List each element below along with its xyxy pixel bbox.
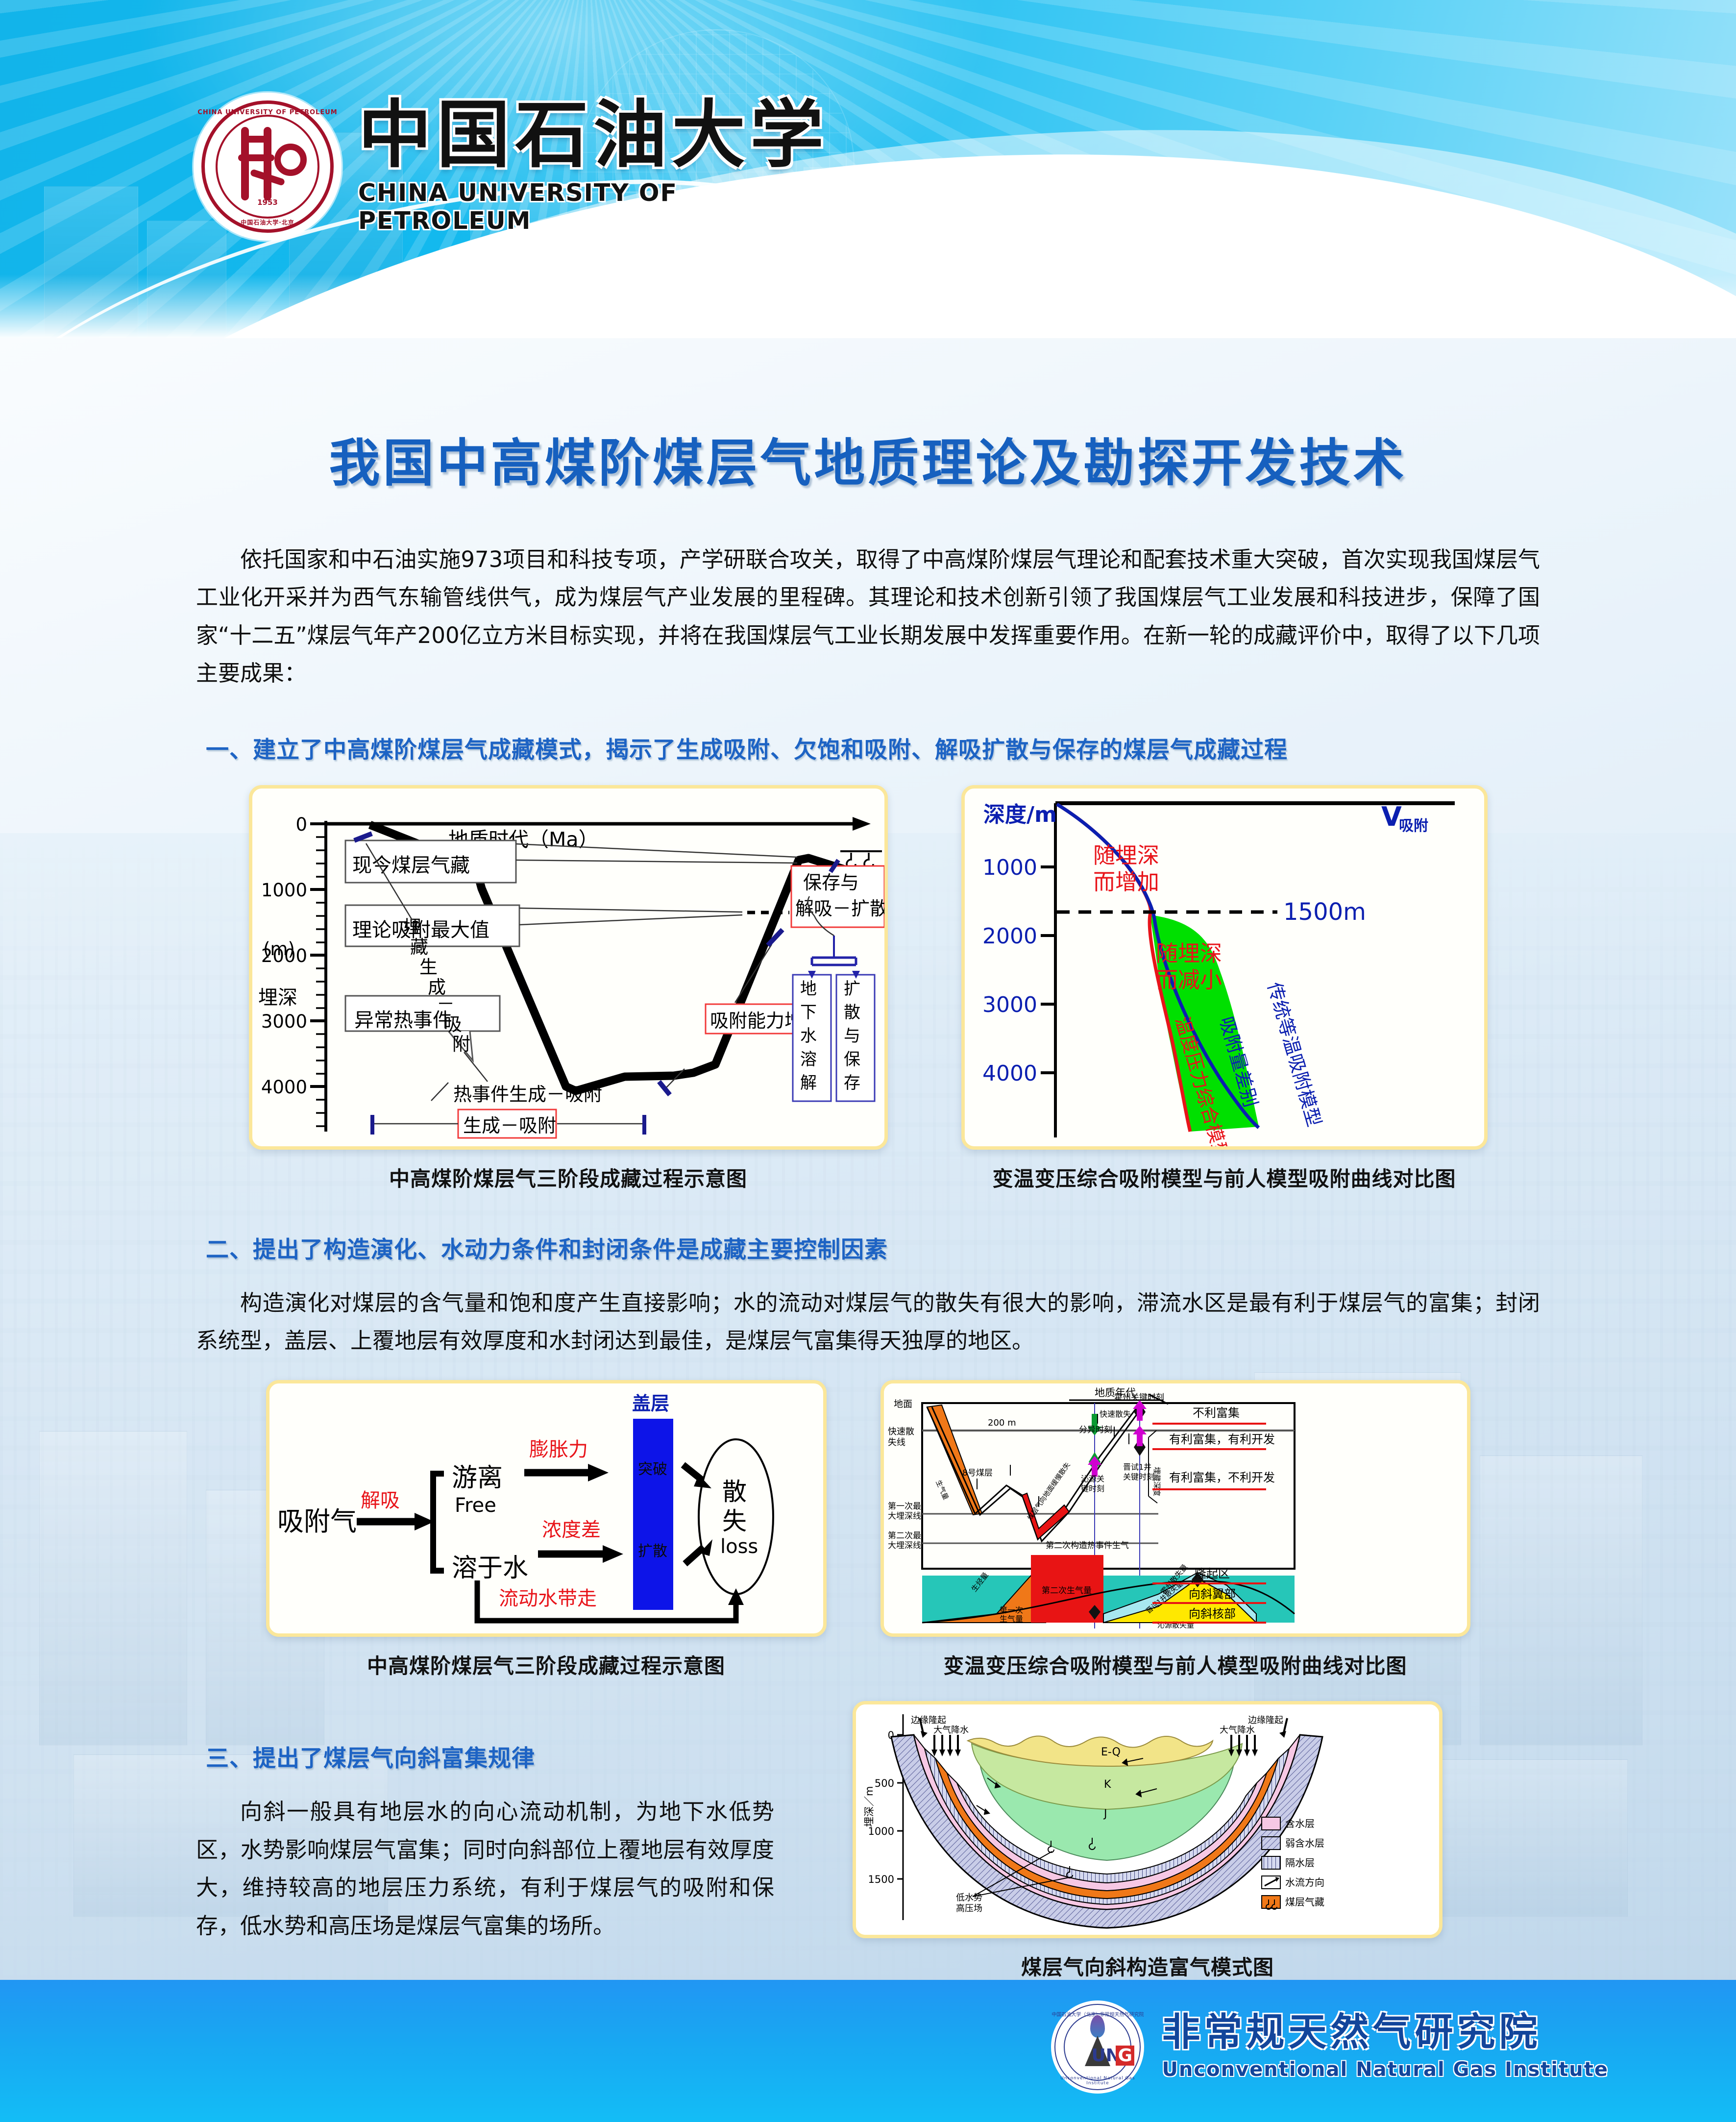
svg-text:保: 保 xyxy=(844,1050,860,1069)
svg-text:附: 附 xyxy=(452,1034,470,1055)
label-first-gas-2: 生气量 xyxy=(1000,1614,1023,1624)
label-qinyuan-2: 键时刻 xyxy=(1081,1484,1104,1493)
svg-text:存: 存 xyxy=(844,1073,860,1093)
gas-loss-flow-diagram: 盖层 突破 扩散 吸附气 解吸 游离 Free 膨胀力 xyxy=(269,1383,823,1633)
svg-text:藏: 藏 xyxy=(410,937,428,958)
label-free-cn: 游离 xyxy=(452,1463,503,1493)
label-diff-moment: 分异时刻 xyxy=(1079,1425,1112,1435)
label-jinshi-1: 晋试1井 xyxy=(1123,1462,1151,1472)
label-huozhou-key: 霍州关键时刻 xyxy=(1114,1393,1164,1403)
institute-name-cn: 非常规天然气研究院 xyxy=(1162,2013,1609,2051)
section-2-paragraph: 构造演化对煤层的含气量和饱和度产生直接影响；水的流动对煤层气的散失有很大的影响，… xyxy=(196,1284,1540,1360)
university-name-cn: 中国石油大学 xyxy=(358,99,831,172)
label-200m: 200 m xyxy=(988,1418,1016,1428)
crest-year: 1953 xyxy=(197,198,338,207)
label-concentration: 浓度差 xyxy=(542,1519,601,1541)
ytick-3000: 3000 xyxy=(261,1011,307,1032)
ytick-1500: 1500 xyxy=(868,1874,894,1885)
figure-caption: 变温变压综合吸附模型与前人模型吸附曲线对比图 xyxy=(992,1162,1456,1192)
legend-label-0: 含水层 xyxy=(1285,1818,1315,1829)
label-second-burial-2: 大埋深线 xyxy=(888,1541,921,1551)
section-1-figures: 0 1000 2000 3000 4000 (m) 埋深 地质时代（Ma） xyxy=(0,785,1736,1192)
svg-text:溶: 溶 xyxy=(800,1050,817,1069)
label-burial-depth: 埋藏深度 xyxy=(1152,1467,1161,1496)
section-heading-3: 三、提出了煤层气向斜富集规律 xyxy=(206,1739,853,1773)
intro-paragraph: 依托国家和中石油实施973项目和科技专项，产学研联合攻关，取得了中高煤阶煤层气理… xyxy=(196,541,1540,692)
label-first-burial-1: 第一次最 xyxy=(888,1502,921,1511)
label-favorable-nodev: 有利富集，不利开发 xyxy=(1169,1471,1275,1484)
label-favorable-dev: 有利富集，有利开发 xyxy=(1169,1432,1275,1446)
figure-burial-key-moments: 地质年代 地面 快速散 失线 200 m 第一次最 大埋深线 第二次最 大埋深线 xyxy=(880,1380,1470,1679)
label-increase-2: 而增加 xyxy=(1093,869,1159,895)
section-3-paragraph: 向斜一般具有地层水的向心流动机制，为地下水低势区，水势影响煤层气富集；同时向斜部… xyxy=(196,1793,774,1945)
svg-text:生: 生 xyxy=(419,957,438,978)
label-low-potential-1: 低水势 xyxy=(956,1893,982,1903)
label-decrease-2: 而减小 xyxy=(1156,967,1222,993)
svg-text:生成－吸附: 生成－吸附 xyxy=(463,1115,556,1136)
legend-label-3: 水流方向 xyxy=(1285,1876,1324,1888)
label-breakthrough: 突破 xyxy=(638,1461,667,1478)
label-loss-en: loss xyxy=(720,1535,758,1558)
figure-adsorption-model: 深度/m 1000 2000 3000 4000 V 吸附 1500m xyxy=(961,785,1488,1192)
ytick-500: 500 xyxy=(875,1777,894,1789)
syncline-model-diagram: 0 500 1000 1500 埋深／m xyxy=(856,1704,1439,1935)
label-adsorbed-gas: 吸附气 xyxy=(277,1506,357,1537)
ytick-1000: 1000 xyxy=(982,855,1037,880)
figure-caption: 变温变压综合吸附模型与前人模型吸附曲线对比图 xyxy=(943,1650,1407,1679)
ytick-1000: 1000 xyxy=(261,880,307,901)
annotation-generate-adsorb: 生成－吸附 xyxy=(458,1110,556,1138)
label-qinyuan-1: 沁源关 xyxy=(1081,1474,1104,1483)
ytick-2000: 2000 xyxy=(982,924,1037,949)
institute-lockup: 中国石油大学（北京）·非常规天然气研究院 UNG Unconventional … xyxy=(1051,2000,1609,2094)
figure-burial-history: 0 1000 2000 3000 4000 (m) 埋深 地质时代（Ma） xyxy=(249,785,888,1192)
ung-logo-icon: 中国石油大学（北京）·非常规天然气研究院 UNG Unconventional … xyxy=(1051,2000,1144,2094)
label-surface: 地面 xyxy=(894,1399,912,1409)
label-coal-seam-8: 8号煤层 xyxy=(962,1468,993,1478)
legend-label-1: 弱含水层 xyxy=(1285,1837,1324,1849)
figure-syncline-model: 0 500 1000 1500 埋深／m xyxy=(853,1701,1443,1981)
label-desorb: 解吸 xyxy=(361,1489,400,1512)
svg-text:解吸－扩散: 解吸－扩散 xyxy=(795,898,884,919)
figure-panel: 深度/m 1000 2000 3000 4000 V 吸附 1500m xyxy=(961,785,1488,1150)
label-edge-uplift-left: 边缘隆起 xyxy=(911,1715,946,1726)
label-increase-1: 随埋深 xyxy=(1093,842,1159,868)
figure-caption: 中高煤阶煤层气三阶段成藏过程示意图 xyxy=(389,1162,747,1192)
annotation-gw-dissolve: 地 下 水 溶 解 xyxy=(793,975,831,1101)
university-crest-icon: CHINA UNIVERSITY OF PETROLEUM 1953 中国石油大… xyxy=(194,93,342,241)
label-precipitation-right: 大气降水 xyxy=(1220,1725,1255,1735)
label-uplift-zone: 隆起区 xyxy=(1195,1567,1230,1580)
figure-panel: 0 1000 2000 3000 4000 (m) 埋深 地质时代（Ma） xyxy=(249,785,888,1150)
x-axis-subtitle: 吸附 xyxy=(1399,817,1428,835)
header-fade xyxy=(0,274,1736,338)
institute-name-en: Unconventional Natural Gas Institute xyxy=(1162,2058,1609,2081)
label-unfavorable: 不利富集 xyxy=(1193,1406,1240,1420)
crest-top-arc-text: CHINA UNIVERSITY OF PETROLEUM xyxy=(197,109,338,116)
ytick-3000: 3000 xyxy=(982,992,1037,1017)
legend-label-2: 隔水层 xyxy=(1285,1857,1315,1869)
section-heading-2: 二、提出了构造演化、水动力条件和封闭条件是成藏主要控制因素 xyxy=(206,1231,1736,1264)
label-precipitation-left: 大气降水 xyxy=(933,1725,969,1735)
label-low-potential-2: 高压场 xyxy=(956,1903,982,1914)
label-loss-1: 散 xyxy=(722,1478,747,1506)
label-fast-loss: 快速散失 xyxy=(1100,1409,1131,1419)
label-fastloss-2: 失线 xyxy=(888,1437,905,1448)
label-syncline-wing: 向斜翼部 xyxy=(1189,1587,1236,1601)
svg-text:解: 解 xyxy=(800,1073,817,1093)
burial-history-chart: 0 1000 2000 3000 4000 (m) 埋深 地质时代（Ma） xyxy=(252,789,884,1146)
label-syncline-core: 向斜核部 xyxy=(1189,1607,1236,1621)
annotation-preserve-desorb: 保存与 解吸－扩散 xyxy=(791,860,884,927)
poster-body: 我国中高煤阶煤层气地质理论及勘探开发技术 依托国家和中石油实施973项目和科技专… xyxy=(0,338,1736,1981)
label-second-burial-1: 第二次最 xyxy=(888,1531,921,1541)
figure-caption: 中高煤阶煤层气三阶段成藏过程示意图 xyxy=(367,1650,725,1679)
section-3-row: 三、提出了煤层气向斜富集规律 向斜一般具有地层水的向心流动机制，为地下水低势区，… xyxy=(0,1701,1736,1981)
label-first-gas-1: 第一次 xyxy=(1000,1605,1023,1615)
ytick-4000: 4000 xyxy=(982,1061,1037,1086)
annotation-present-reservoir: 现今煤层气藏 xyxy=(345,840,797,883)
label-loss-2: 失 xyxy=(722,1507,747,1535)
section-heading-1: 一、建立了中高煤阶煤层气成藏模式，揭示了生成吸附、欠饱和吸附、解吸扩散与保存的煤… xyxy=(206,731,1736,765)
poster-footer: 中国石油大学（北京）·非常规天然气研究院 UNG Unconventional … xyxy=(0,1980,1736,2122)
label-edge-uplift-right: 边缘隆起 xyxy=(1248,1715,1283,1726)
annotation-diffuse-preserve: 扩 散 与 保 存 xyxy=(836,975,875,1101)
label-jinshi-2: 关键时刻 xyxy=(1123,1472,1154,1481)
adsorption-model-chart: 深度/m 1000 2000 3000 4000 V 吸附 1500m xyxy=(965,789,1484,1146)
label-water-carry: 流动水带走 xyxy=(499,1587,597,1610)
label-second-gas: 第二次生气量 xyxy=(1042,1586,1092,1596)
svg-text:散: 散 xyxy=(844,1003,860,1022)
svg-text:保存与: 保存与 xyxy=(803,872,859,893)
svg-text:吸: 吸 xyxy=(444,1014,462,1035)
ytick-0: 0 xyxy=(295,814,307,835)
y-axis-title: 深度/m xyxy=(983,802,1057,827)
label-thermal-generate: 热事件生成－吸附 xyxy=(453,1084,602,1105)
figure-panel: 0 500 1000 1500 埋深／m xyxy=(853,1701,1443,1938)
svg-text:地: 地 xyxy=(800,979,817,999)
label-decrease-1: 随埋深 xyxy=(1156,940,1222,966)
svg-text:扩: 扩 xyxy=(844,979,860,999)
svg-text:－: － xyxy=(437,993,455,1014)
label-stratum-EQ: E-Q xyxy=(1101,1746,1121,1758)
reference-line-label: 1500m xyxy=(1283,898,1366,926)
y-axis-unit: (m) xyxy=(263,938,295,960)
figure-panel: 盖层 突破 扩散 吸附气 解吸 游离 Free 膨胀力 xyxy=(266,1380,827,1637)
svg-text:现今煤层气藏: 现今煤层气藏 xyxy=(352,854,470,877)
section-2-figures: 盖层 突破 扩散 吸附气 解吸 游离 Free 膨胀力 xyxy=(0,1380,1736,1679)
label-stratum-K: K xyxy=(1104,1778,1111,1791)
ung-logo-bottom-text: Unconventional Natural Gas Institute xyxy=(1051,2076,1144,2086)
legend-blue-model: 传统等温吸附模型 xyxy=(1263,980,1325,1129)
caprock-bar xyxy=(633,1419,673,1610)
label-free-en: Free xyxy=(455,1494,496,1517)
label-expansion: 膨胀力 xyxy=(529,1438,588,1461)
label-diffusion: 扩散 xyxy=(638,1543,667,1560)
svg-text:水: 水 xyxy=(800,1026,817,1046)
key-moments-diagram: 地质年代 地面 快速散 失线 200 m 第一次最 大埋深线 第二次最 大埋深线 xyxy=(884,1383,1467,1633)
y-axis-title: 埋深 xyxy=(258,987,297,1009)
svg-text:与: 与 xyxy=(844,1026,860,1046)
label-dissolved: 溶于水 xyxy=(452,1554,528,1583)
svg-text:下: 下 xyxy=(800,1003,817,1022)
figure-panel: 地质年代 地面 快速散 失线 200 m 第一次最 大埋深线 第二次最 大埋深线 xyxy=(880,1380,1470,1637)
label-caprock: 盖层 xyxy=(632,1393,669,1414)
y-axis-title: 埋深／m xyxy=(863,1786,875,1827)
legend-label-4: 煤层气藏 xyxy=(1285,1896,1324,1908)
university-logo-lockup: CHINA UNIVERSITY OF PETROLEUM 1953 中国石油大… xyxy=(194,83,831,250)
label-stratum-J: J xyxy=(1103,1808,1107,1820)
poster-header: CHINA UNIVERSITY OF PETROLEUM 1953 中国石油大… xyxy=(0,0,1736,338)
crest-monogram-icon xyxy=(238,127,297,200)
section-3-text-col: 三、提出了煤层气向斜富集规律 向斜一般具有地层水的向心流动机制，为地下水低势区，… xyxy=(0,1701,853,1945)
figure-gas-loss-flow: 盖层 突破 扩散 吸附气 解吸 游离 Free 膨胀力 xyxy=(266,1380,827,1679)
crest-bottom-arc-text: 中国石油大学·北京 xyxy=(197,218,338,226)
label-second-thermal: 第二次构造热事件生气 xyxy=(1046,1541,1129,1551)
page-title: 我国中高煤阶煤层气地质理论及勘探开发技术 xyxy=(0,421,1736,495)
figure-caption: 煤层气向斜构造富气模式图 xyxy=(1021,1951,1274,1981)
ytick-4000: 4000 xyxy=(261,1077,307,1098)
label-fastloss-1: 快速散 xyxy=(888,1427,914,1437)
annotation-thermal-event: 异常热事件 xyxy=(345,996,500,1061)
label-first-burial-2: 大埋深线 xyxy=(888,1511,921,1521)
university-name-en: CHINA UNIVERSITY OF PETROLEUM xyxy=(358,179,831,235)
